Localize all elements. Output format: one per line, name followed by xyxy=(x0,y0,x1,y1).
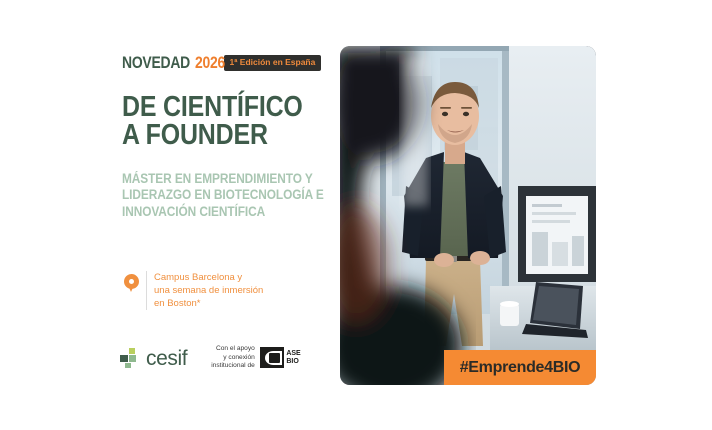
poster-subtitle: MÁSTER EN EMPRENDIMIENTO Y LIDERAZGO EN … xyxy=(122,171,324,220)
asebio-wordmark: ASE BIO xyxy=(286,350,300,365)
asebio-mark-icon xyxy=(260,347,284,368)
year-label: 2026 xyxy=(195,54,225,71)
location-line-3: en Boston* xyxy=(154,298,263,311)
cesif-wordmark: cesif xyxy=(146,348,187,369)
support-line-2: y conexión xyxy=(211,354,255,363)
cesif-logo: cesif xyxy=(120,348,187,369)
hashtag-band: #Emprende4BIO xyxy=(444,350,596,385)
support-line-1: Con el apoyo xyxy=(211,345,255,354)
location-line-2: una semana de inmersión xyxy=(154,285,263,298)
cesif-squares-icon xyxy=(120,348,141,369)
location-divider xyxy=(146,271,147,310)
hero-photo: #Emprende4BIO xyxy=(340,46,596,385)
headline-line-2: A FOUNDER xyxy=(122,122,303,150)
page-title: DE CIENTÍFICO A FOUNDER xyxy=(122,94,303,149)
headline-line-1: DE CIENTÍFICO xyxy=(122,94,303,122)
promotional-poster: NOVEDAD 2026 1ª Edición en España DE CIE… xyxy=(100,38,612,390)
location-block: Campus Barcelona y una semana de inmersi… xyxy=(124,271,263,310)
subtitle-line-2: LIDERAZGO EN BIOTECNOLOGÍA E xyxy=(122,187,324,203)
hashtag-text: #Emprende4BIO xyxy=(460,360,581,376)
location-text: Campus Barcelona y una semana de inmersi… xyxy=(154,271,263,310)
edition-badge: 1ª Edición en España xyxy=(224,55,322,71)
asebio-line-1: ASE xyxy=(286,350,300,358)
support-block: Con el apoyo y conexión institucional de… xyxy=(211,345,301,372)
novedad-label: NOVEDAD xyxy=(122,54,190,71)
location-pin-icon xyxy=(124,274,139,295)
support-line-3: institucional de xyxy=(211,362,255,371)
location-line-1: Campus Barcelona y xyxy=(154,272,263,285)
asebio-line-2: BIO xyxy=(286,358,300,366)
eyebrow-row: NOVEDAD 2026 1ª Edición en España xyxy=(122,54,321,71)
support-text: Con el apoyo y conexión institucional de xyxy=(211,345,255,372)
subtitle-line-1: MÁSTER EN EMPRENDIMIENTO Y xyxy=(122,171,324,187)
subtitle-line-3: INNOVACIÓN CIENTÍFICA xyxy=(122,204,324,220)
asebio-logo: ASE BIO xyxy=(260,347,301,368)
hero-photo-illustration xyxy=(340,46,596,385)
poster-footer: cesif Con el apoyo y conexión institucio… xyxy=(120,336,360,380)
poster-left-column: NOVEDAD 2026 1ª Edición en España DE CIE… xyxy=(100,38,350,390)
